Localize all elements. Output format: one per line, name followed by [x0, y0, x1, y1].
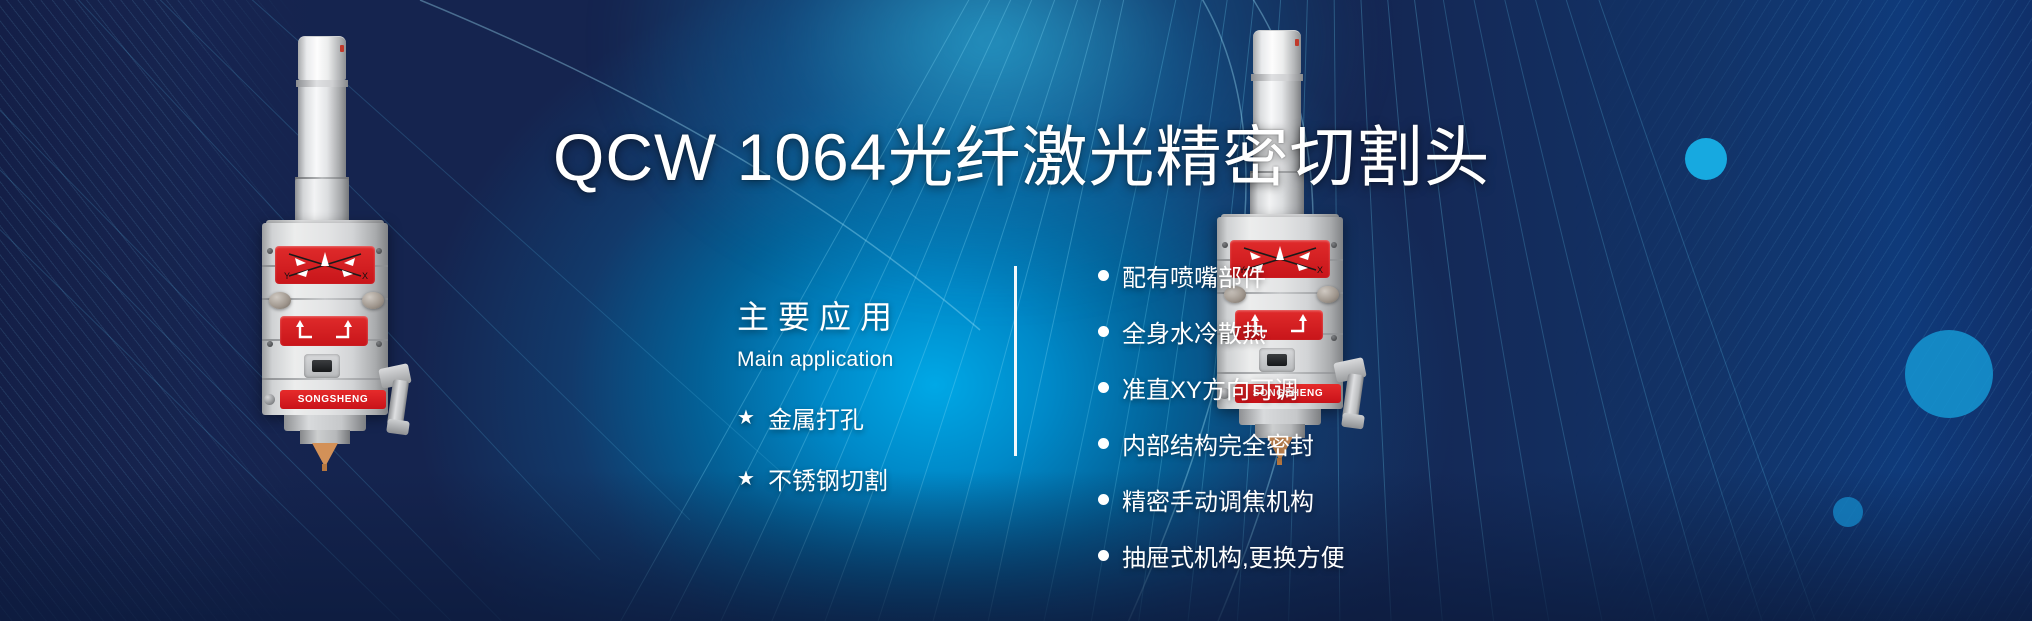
list-item: ★ 不锈钢切割: [737, 461, 987, 496]
decorative-circle-bottom: [1833, 497, 1863, 527]
star-icon: ★: [737, 408, 755, 428]
feature-label: 配有喷嘴部件: [1122, 258, 1266, 293]
collimator-ring: [296, 80, 348, 87]
feature-label: 内部结构完全密封: [1122, 426, 1314, 461]
list-item: 内部结构完全密封: [1098, 426, 1345, 461]
feature-label: 准直XY方向可调: [1122, 370, 1298, 405]
main-application-title-en: Main application: [737, 348, 987, 372]
star-icon: ★: [737, 469, 755, 489]
collimator-top-cap: [298, 36, 346, 80]
background-bottom-shade: [0, 471, 2032, 621]
application-list: ★ 金属打孔 ★ 不锈钢切割: [737, 400, 987, 496]
list-item: 抽屉式机构,更换方便: [1098, 538, 1345, 573]
housing-screw: [267, 248, 273, 254]
bullet-icon: [1098, 438, 1109, 449]
collimator-ring: [1251, 74, 1303, 81]
bullet-icon: [1098, 382, 1109, 393]
indicator-dot: [340, 45, 344, 52]
collimator-lower-body: [295, 179, 349, 225]
bullet-icon: [1098, 326, 1109, 337]
application-item-label: 金属打孔: [768, 400, 864, 435]
lens-glass: [312, 360, 332, 372]
feature-label: 精密手动调焦机构: [1122, 482, 1314, 517]
brand-name: SONGSHENG: [298, 394, 368, 405]
adjust-knob-right: [362, 292, 384, 309]
brand-screw: [264, 394, 275, 405]
list-item: 准直XY方向可调: [1098, 370, 1345, 405]
nozzle-base: [284, 415, 366, 431]
list-item: 配有喷嘴部件: [1098, 258, 1345, 293]
decorative-circle-top: [1685, 138, 1727, 180]
decorative-circle-mid: [1905, 330, 1993, 418]
nozzle-neck: [300, 430, 350, 444]
list-item: ★ 金属打孔: [737, 400, 987, 435]
main-application-block: 主要应用 Main application ★ 金属打孔 ★ 不锈钢切割: [737, 292, 987, 522]
brand-plate: SONGSHENG: [280, 390, 386, 409]
svg-text:Y: Y: [284, 271, 290, 281]
housing-screw: [376, 248, 382, 254]
water-fitting-nut: [386, 419, 410, 436]
feature-label: 抽屉式机构,更换方便: [1122, 538, 1345, 573]
bullet-icon: [1098, 550, 1109, 561]
feature-label: 全身水冷散热: [1122, 314, 1266, 349]
housing-screw: [1331, 242, 1337, 248]
feature-list: 配有喷嘴部件 全身水冷散热 准直XY方向可调 内部结构完全密封 精密手动调焦机构…: [1098, 258, 1345, 594]
main-application-title-cn: 主要应用: [737, 292, 987, 338]
indicator-dot: [1295, 39, 1299, 46]
adjust-knob-left: [269, 292, 291, 309]
bullet-icon: [1098, 494, 1109, 505]
housing-screw: [376, 341, 382, 347]
svg-text:X: X: [362, 271, 368, 281]
nozzle-tip: [322, 464, 327, 471]
product-image-left: Y X: [240, 36, 420, 466]
xy-adjust-label: Y X: [275, 246, 375, 284]
water-fitting-nut: [1341, 413, 1365, 430]
housing-screw: [267, 341, 273, 347]
bullet-icon: [1098, 270, 1109, 281]
collimator-top-cap: [1253, 30, 1301, 74]
list-item: 全身水冷散热: [1098, 314, 1345, 349]
collimator-body: [298, 87, 346, 179]
housing-screw: [1222, 242, 1228, 248]
product-banner: Y X: [0, 0, 2032, 621]
direction-arrows-label: [280, 316, 368, 346]
housing-seam-4: [262, 378, 388, 380]
application-item-label: 不锈钢切割: [768, 461, 888, 496]
banner-headline: QCW 1064光纤激光精密切割头: [553, 104, 1490, 200]
vertical-divider: [1014, 266, 1017, 456]
list-item: 精密手动调焦机构: [1098, 482, 1345, 517]
brand-plate-row: SONGSHENG: [264, 388, 386, 410]
